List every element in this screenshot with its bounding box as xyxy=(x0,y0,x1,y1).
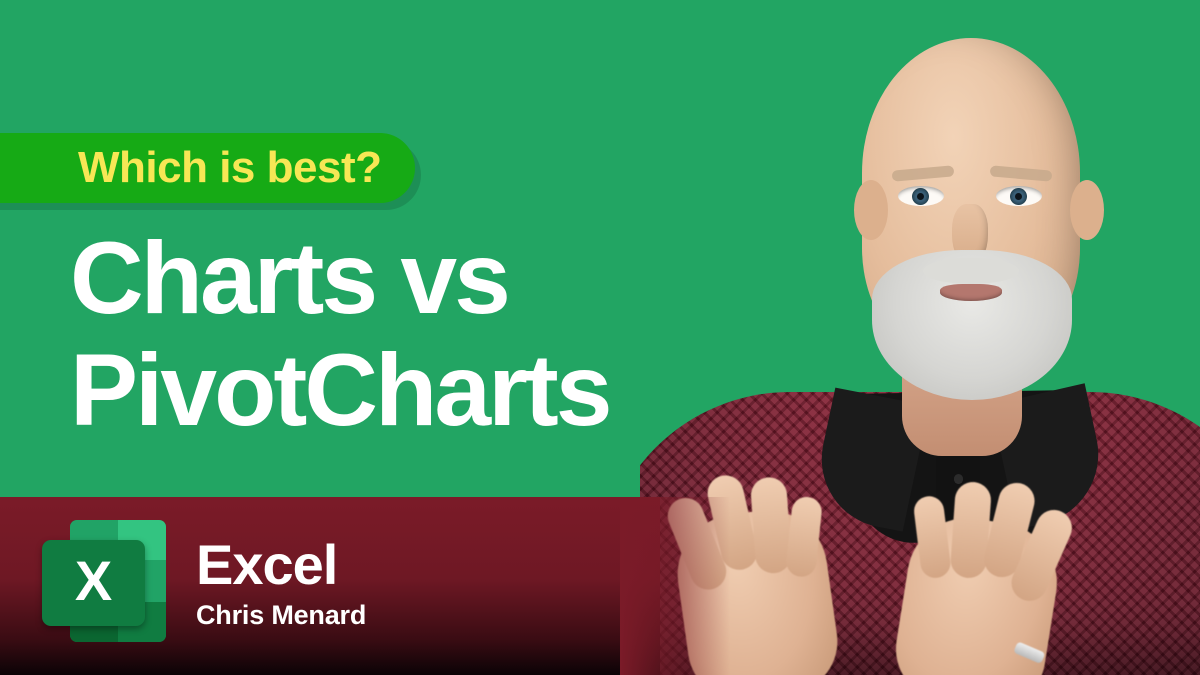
excel-logo: X xyxy=(42,518,168,642)
eye-left xyxy=(898,186,944,206)
eye-right xyxy=(996,186,1042,206)
page-title: Charts vs PivotCharts xyxy=(70,222,609,446)
title-line-1: Charts vs xyxy=(70,222,609,334)
excel-x-letter: X xyxy=(75,553,112,609)
ear-left xyxy=(854,180,888,240)
wedding-ring xyxy=(1013,641,1045,664)
youtube-thumbnail: Which is best? Charts vs PivotCharts X E… xyxy=(0,0,1200,675)
mustache xyxy=(923,258,1019,284)
brand-block: Excel Chris Menard xyxy=(196,536,366,630)
brand-title: Excel xyxy=(196,536,366,594)
shirt-button-upper xyxy=(954,474,963,483)
which-is-best-badge: Which is best? xyxy=(0,133,415,203)
excel-x-tile: X xyxy=(42,540,145,626)
ear-right xyxy=(1070,180,1104,240)
mouth xyxy=(940,284,1002,301)
brand-subtitle: Chris Menard xyxy=(196,600,366,630)
title-line-2: PivotCharts xyxy=(70,334,609,446)
badge-label: Which is best? xyxy=(78,146,381,190)
